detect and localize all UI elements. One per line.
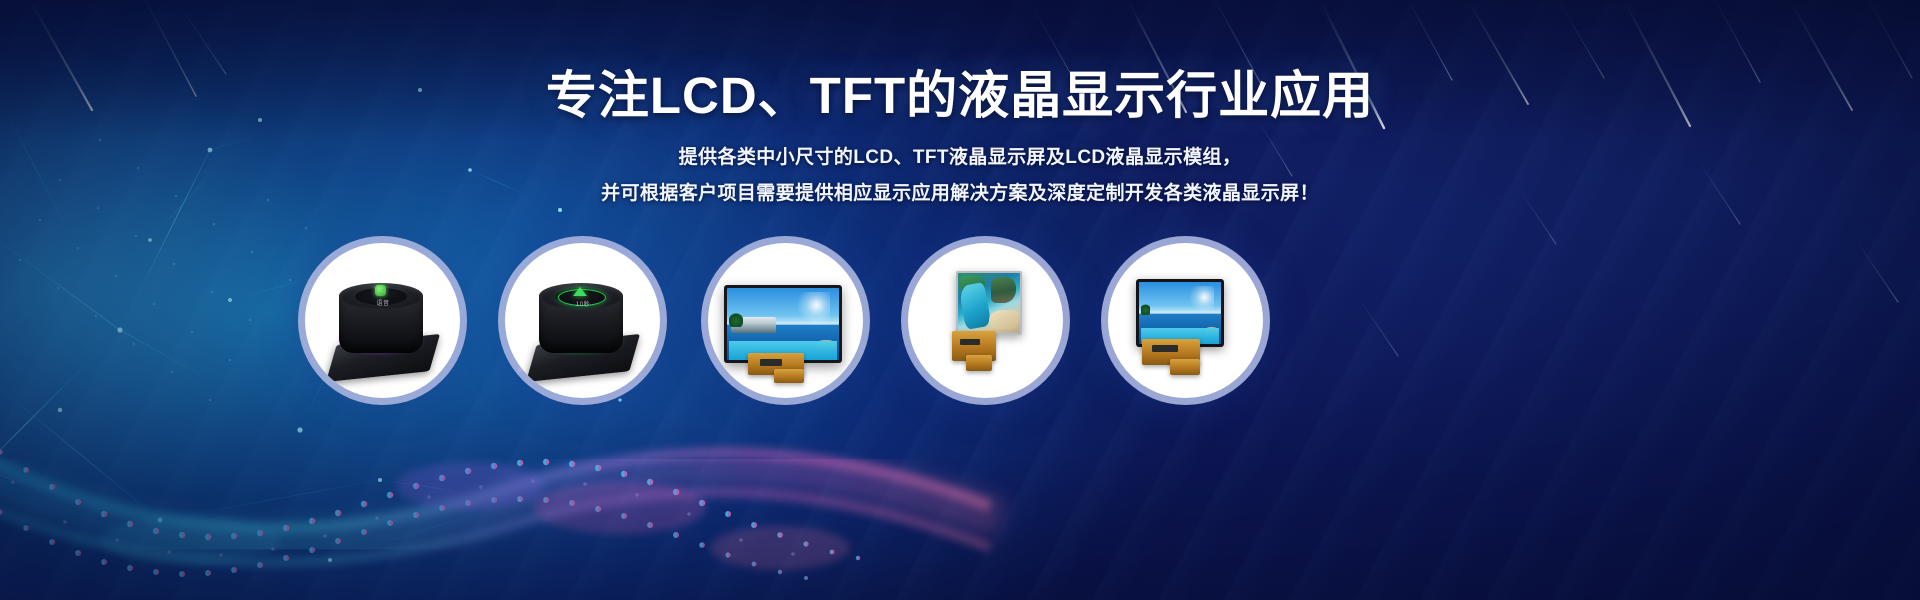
fpc-ribbon-tail [774,369,804,383]
hero-banner: 专注LCD、TFT的液晶显示行业应用 提供各类中小尺寸的LCD、TFT液晶显示屏… [0,0,1920,600]
driver-ic-chip [760,359,782,366]
page-title: 专注LCD、TFT的液晶显示行业应用 [0,66,1920,125]
play-arrow-icon [573,287,587,296]
product-circle-tft-lcd-square[interactable] [908,243,1063,398]
fpc-ribbon-tail [1170,359,1200,375]
lcd-wide-bezel [724,285,842,363]
product-circle-tft-lcd-panel[interactable] [1108,243,1263,398]
speaker-badge-label: 语音 [363,298,403,307]
product-circle-tft-lcd-widescreen[interactable] [708,243,863,398]
speaker-badge-label: 10秒 [563,299,603,308]
lcd-square-bezel [1136,279,1224,347]
lcd-screen-image [727,288,839,360]
subtitle-line-2: 并可根据客户项目需要提供相应显示应用解决方案及深度定制开发各类液晶显示屏！ [0,178,1920,205]
fpc-ribbon-tail [966,355,992,371]
driver-ic-chip [960,339,980,345]
lcd-portrait-bezel [956,271,1022,335]
driver-ic-chip [1152,345,1178,352]
lcd-screen-image [958,273,1020,333]
product-circle-smart-speaker-green[interactable]: 10秒 [505,243,660,398]
subtitle-line-1: 提供各类中小尺寸的LCD、TFT液晶显示屏及LCD液晶显示模组， [0,142,1920,169]
product-circle-smart-speaker-purple[interactable]: 语音 [305,243,460,398]
lcd-screen-image [1139,282,1221,344]
leaf-badge-icon [375,285,386,296]
